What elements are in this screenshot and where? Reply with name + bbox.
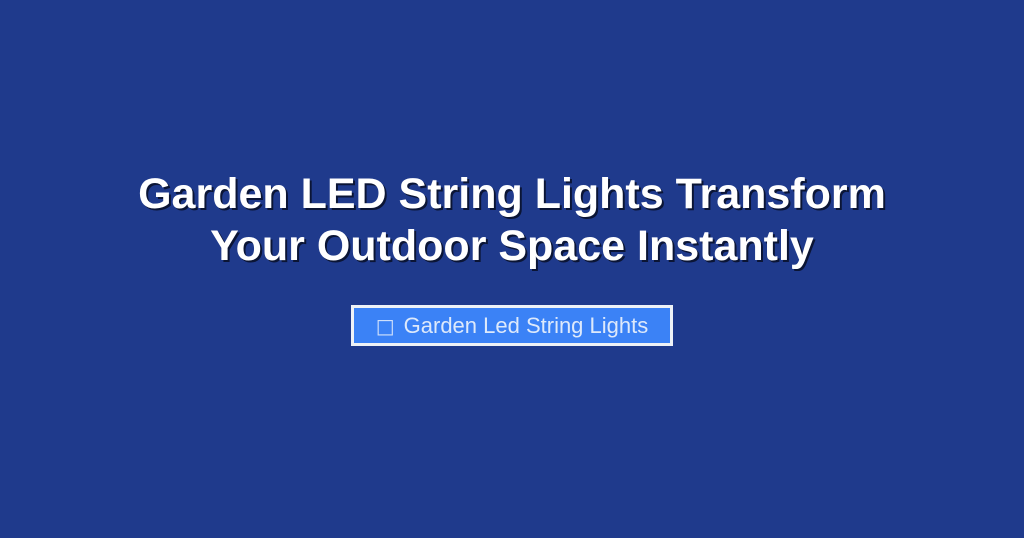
page-title: Garden LED String Lights Transform Your …: [112, 168, 912, 272]
cta-button-label: Garden Led String Lights: [404, 315, 649, 337]
cta-container: □ Garden Led String Lights: [0, 305, 1024, 346]
page-canvas: Garden LED String Lights Transform Your …: [0, 0, 1024, 538]
garden-led-string-lights-cta-button[interactable]: □ Garden Led String Lights: [351, 305, 674, 346]
hero-section: Garden LED String Lights Transform Your …: [0, 0, 1024, 538]
missing-glyph-box-icon: □: [376, 316, 395, 336]
